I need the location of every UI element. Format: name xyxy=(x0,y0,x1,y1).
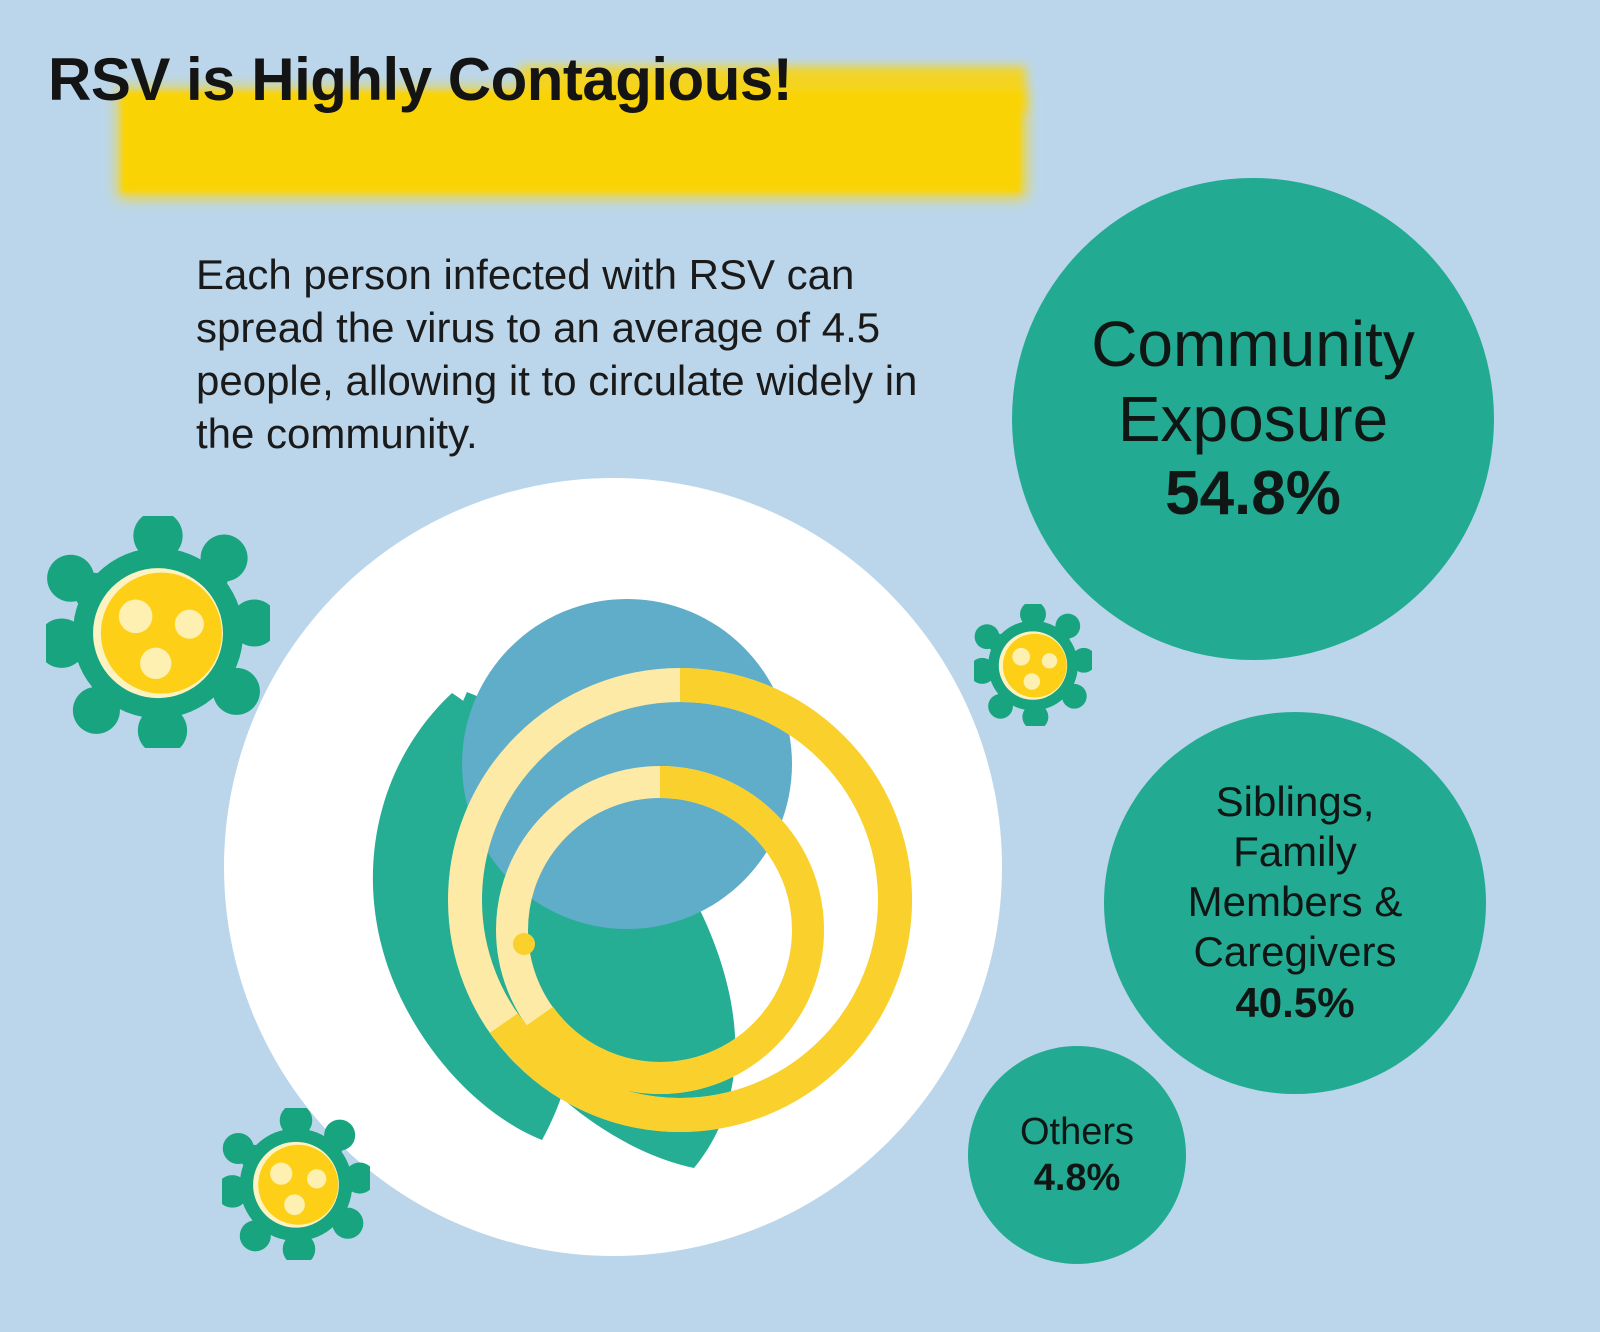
virus-spot xyxy=(1024,673,1041,690)
bubble-siblings-family-caregivers[interactable]: Siblings, Family Members & Caregivers 40… xyxy=(1104,712,1486,1094)
illustration-ring-dot xyxy=(513,933,535,955)
bubble-community-exposure[interactable]: Community Exposure 54.8% xyxy=(1012,178,1494,660)
virus-spot xyxy=(1042,653,1057,668)
bubble-value-others: 4.8% xyxy=(1034,1155,1121,1201)
infographic-canvas: RSV is Highly Contagious! Each person in… xyxy=(0,0,1600,1332)
virus-icon-large-left xyxy=(46,516,270,748)
intro-paragraph: Each person infected with RSV can spread… xyxy=(196,248,956,460)
bubble-label-siblings: Siblings, Family Members & Caregivers xyxy=(1188,777,1403,977)
bubble-value-siblings: 40.5% xyxy=(1235,977,1354,1029)
page-title: RSV is Highly Contagious! xyxy=(48,44,908,116)
virus-spot xyxy=(270,1163,292,1185)
virus-spot xyxy=(307,1169,326,1188)
virus-spot xyxy=(284,1194,305,1215)
virus-spot xyxy=(1012,648,1030,666)
virus-spot xyxy=(119,600,153,634)
bubble-label-others: Others xyxy=(1020,1109,1134,1155)
bubble-label-community: Community Exposure xyxy=(1091,307,1415,457)
bubble-value-community: 54.8% xyxy=(1165,457,1341,531)
bubble-others[interactable]: Others 4.8% xyxy=(968,1046,1186,1264)
virus-spot xyxy=(175,610,204,639)
virus-icon-medium-bottom xyxy=(222,1108,370,1260)
virus-spot xyxy=(140,648,171,679)
virus-icon-small-right xyxy=(974,604,1092,726)
